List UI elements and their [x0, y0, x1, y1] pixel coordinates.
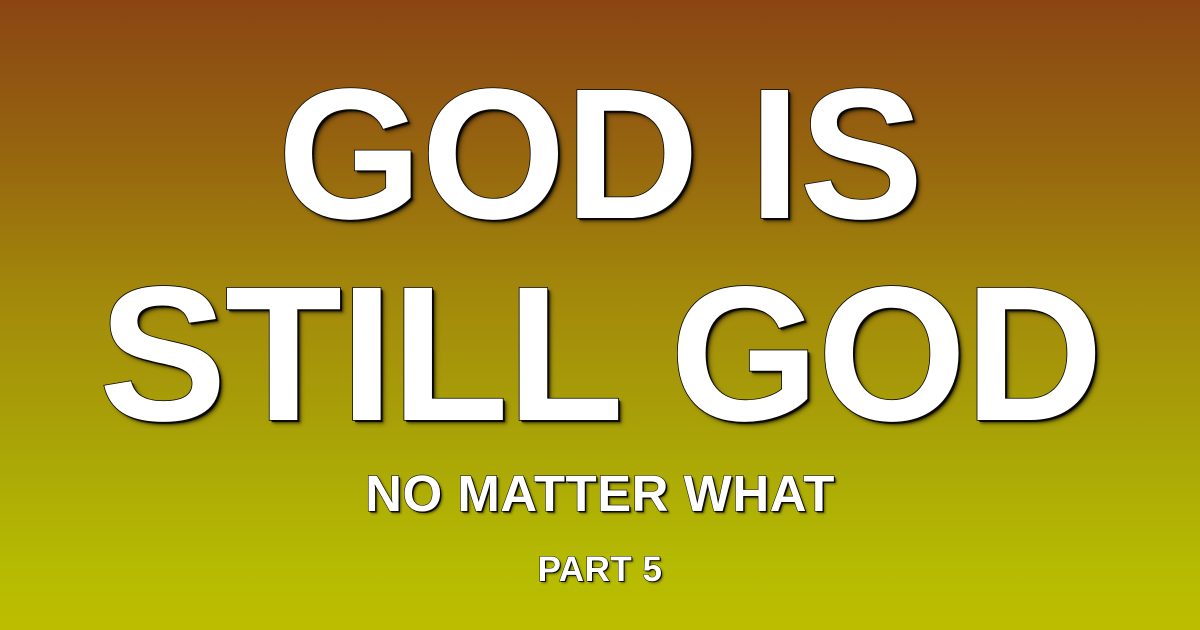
headline-line-2: STILL GOD [0, 258, 1200, 450]
title-slide: GOD IS STILL GOD NO MATTER WHAT PART 5 [0, 0, 1200, 630]
subtitle-text: NO MATTER WHAT [0, 468, 1200, 519]
headline-line-1: GOD IS [0, 62, 1200, 248]
part-label: PART 5 [0, 552, 1200, 587]
